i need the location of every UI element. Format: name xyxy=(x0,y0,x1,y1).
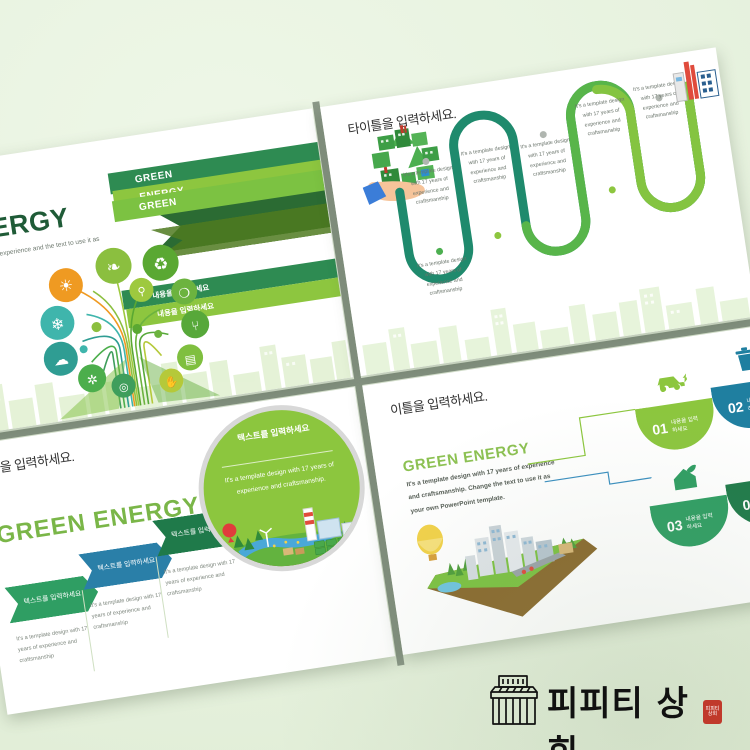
br-slide-title: 이틀을 입력하세요. xyxy=(389,386,489,419)
br-pill-02-label: 내용을 입력하세요 xyxy=(746,393,750,414)
svg-text:☀: ☀ xyxy=(58,277,75,296)
svg-text:✋: ✋ xyxy=(164,375,179,390)
trash-recycle-icon xyxy=(704,331,750,388)
screenshot-stage: 세요. ENERGY th 17 years of experience and… xyxy=(0,0,750,750)
bl-arrow-desc-1: It's a template design with 17 years of … xyxy=(16,624,92,667)
bl-arrow-desc-2: It's a template design with 17 years of … xyxy=(89,590,165,633)
logo-stamp: 피피티 상회 xyxy=(703,700,722,724)
slide-deck: 세요. ENERGY th 17 years of experience and… xyxy=(0,47,750,720)
ppt-sanghoe-logo[interactable]: 피피티 상회 피피티 상회 xyxy=(485,672,720,734)
bl-circle-title: 텍스트를 입력하세요 xyxy=(205,417,342,451)
svg-text:❧: ❧ xyxy=(105,257,122,278)
bl-circle-panel[interactable]: 텍스트를 입력하세요 It's a template design with 1… xyxy=(187,394,376,583)
br-pill-03-label: 내용을 입력하세요 xyxy=(685,511,717,532)
br-pill-01-label: 내용을 입력하세요 xyxy=(670,414,702,435)
br-pill-03-number: 03 xyxy=(666,517,684,535)
bl-slide-title: 틀을 입력하세요. xyxy=(0,446,75,478)
svg-text:♻: ♻ xyxy=(152,254,170,275)
svg-text:❍: ❍ xyxy=(178,285,192,302)
eco-tree-illustration: ☀ ❧ ♻ ⚲ ❍ ⑂ ❄ ☁ ✲ ◎ ▤ ✋ xyxy=(25,226,228,421)
factory-building-icon xyxy=(669,54,721,106)
slide-bottom-left[interactable]: 틀을 입력하세요. GREEN ENERGY 텍스트를 입력하세요 텍스트를 입… xyxy=(0,387,395,715)
svg-text:❄: ❄ xyxy=(50,316,66,335)
svg-text:▤: ▤ xyxy=(184,352,197,368)
slide-top-right[interactable]: 타이틀을 입력하세요. xyxy=(320,47,750,376)
br-pill-04-number: 04 xyxy=(741,495,750,513)
br-pill-01-number: 01 xyxy=(651,420,669,438)
br-pill-02-number: 02 xyxy=(727,398,745,416)
logo-text: 피피티 상회 xyxy=(547,676,720,750)
storefront-icon xyxy=(485,672,543,730)
svg-text:⚲: ⚲ xyxy=(137,285,147,298)
leaf-icon xyxy=(718,428,750,485)
svg-text:◎: ◎ xyxy=(118,381,129,394)
svg-text:✲: ✲ xyxy=(86,372,99,388)
svg-text:☁: ☁ xyxy=(52,351,69,370)
